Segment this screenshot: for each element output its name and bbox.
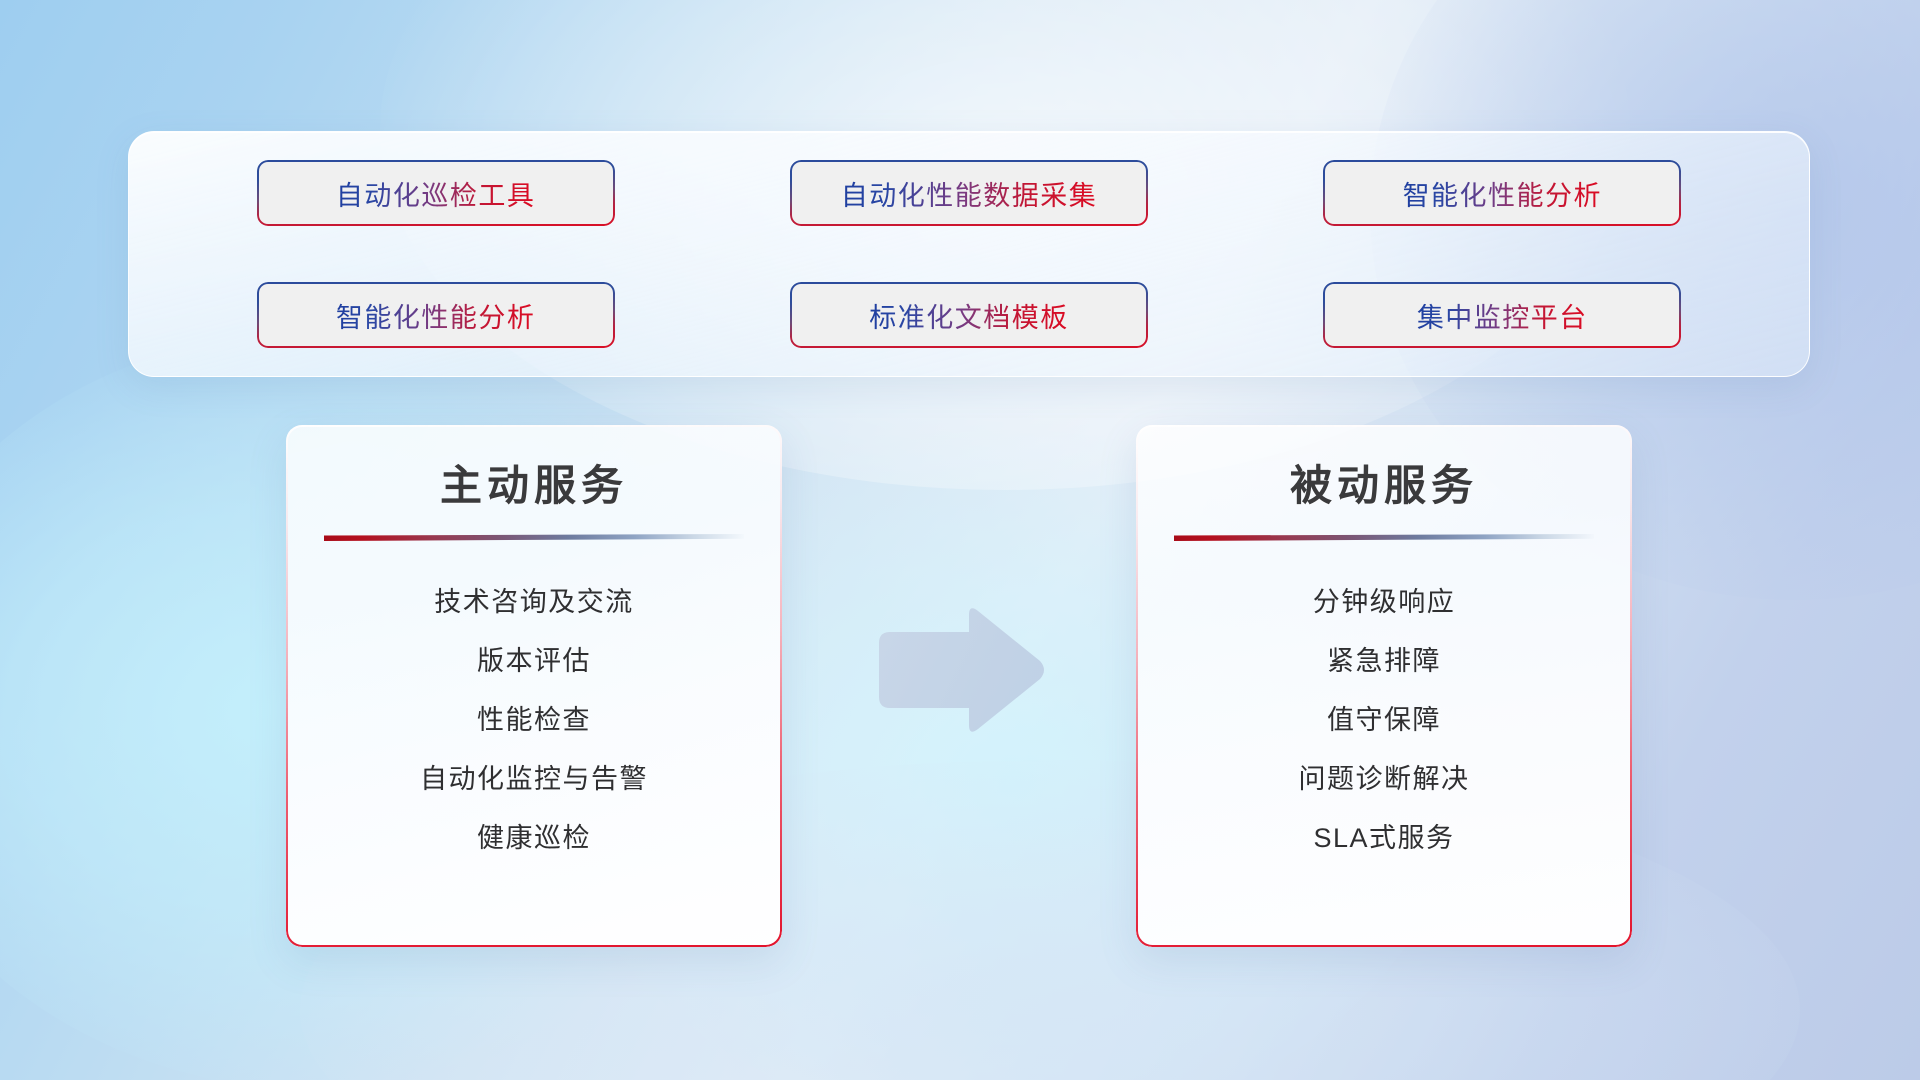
capability-panel: 自动化巡检工具 自动化性能数据采集 智能化性能分析 智能化性能分析 标准化文档模… [128,131,1810,377]
service-card-proactive: 主动服务 技术咨询及交流 版本评估 性能检查 自动化监控与告警 健康巡检 [286,425,782,947]
card-list-proactive: 技术咨询及交流 版本评估 性能检查 自动化监控与告警 健康巡检 [286,541,782,868]
capability-pill-label: 自动化性能数据采集 [841,174,1098,213]
arrow-right-icon [873,603,1048,738]
capability-pill-standardized-document-template[interactable]: 标准化文档模板 [790,282,1148,348]
capability-pill-label: 智能化性能分析 [336,296,536,335]
list-item: 分钟级响应 [1136,573,1632,632]
capability-pill-automated-inspection-tool[interactable]: 自动化巡检工具 [257,160,615,226]
card-list-reactive: 分钟级响应 紧急排障 值守保障 问题诊断解决 SLA式服务 [1136,541,1632,868]
capability-pill-label: 标准化文档模板 [869,296,1069,335]
list-item: 自动化监控与告警 [286,750,782,809]
card-title-reactive: 被动服务 [1136,425,1632,513]
list-item: 健康巡检 [286,809,782,868]
list-item: 性能检查 [286,691,782,750]
service-card-reactive: 被动服务 分钟级响应 紧急排障 值守保障 问题诊断解决 SLA式服务 [1136,425,1632,947]
capability-pill-label: 集中监控平台 [1417,296,1588,335]
list-item: 紧急排障 [1136,632,1632,691]
capability-pill-label: 自动化巡检工具 [336,174,536,213]
capability-pill-grid: 自动化巡检工具 自动化性能数据采集 智能化性能分析 智能化性能分析 标准化文档模… [129,132,1809,376]
list-item: 值守保障 [1136,691,1632,750]
capability-pill-intelligent-performance-analysis[interactable]: 智能化性能分析 [1323,160,1681,226]
card-divider-reactive [1174,534,1594,541]
capability-pill-label: 智能化性能分析 [1403,174,1603,213]
capability-pill-automated-performance-data-collection[interactable]: 自动化性能数据采集 [790,160,1148,226]
capability-pill-intelligent-performance-analysis-2[interactable]: 智能化性能分析 [257,282,615,348]
card-divider-proactive [324,534,744,541]
list-item: 版本评估 [286,632,782,691]
list-item: 问题诊断解决 [1136,750,1632,809]
diagram-canvas: 自动化巡检工具 自动化性能数据采集 智能化性能分析 智能化性能分析 标准化文档模… [0,0,1920,1080]
list-item: SLA式服务 [1136,809,1632,868]
capability-pill-centralized-monitoring-platform[interactable]: 集中监控平台 [1323,282,1681,348]
card-title-proactive: 主动服务 [286,425,782,513]
list-item: 技术咨询及交流 [286,573,782,632]
